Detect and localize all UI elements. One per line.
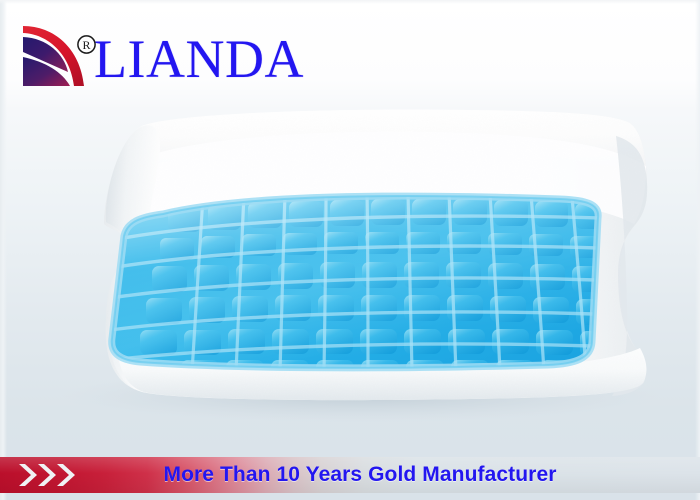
tagline-banner: More Than 10 Years Gold Manufacturer [0, 450, 700, 500]
product-photo [0, 96, 700, 448]
banner-tagline-text: More Than 10 Years Gold Manufacturer [0, 457, 700, 493]
svg-text:R: R [82, 38, 90, 52]
lianda-swoosh-logo-icon: R [14, 16, 96, 88]
registered-trademark-icon: R [76, 34, 97, 55]
brand-logo-lockup: R LIANDA [14, 16, 304, 88]
gel-pad-gloss [112, 196, 598, 368]
product-image-card: R LIANDA [0, 0, 700, 500]
brand-wordmark: LIANDA [94, 32, 304, 86]
brand-header: R LIANDA [0, 0, 700, 108]
gel-cooling-pad [110, 192, 606, 384]
pillow-illustration [0, 96, 700, 448]
